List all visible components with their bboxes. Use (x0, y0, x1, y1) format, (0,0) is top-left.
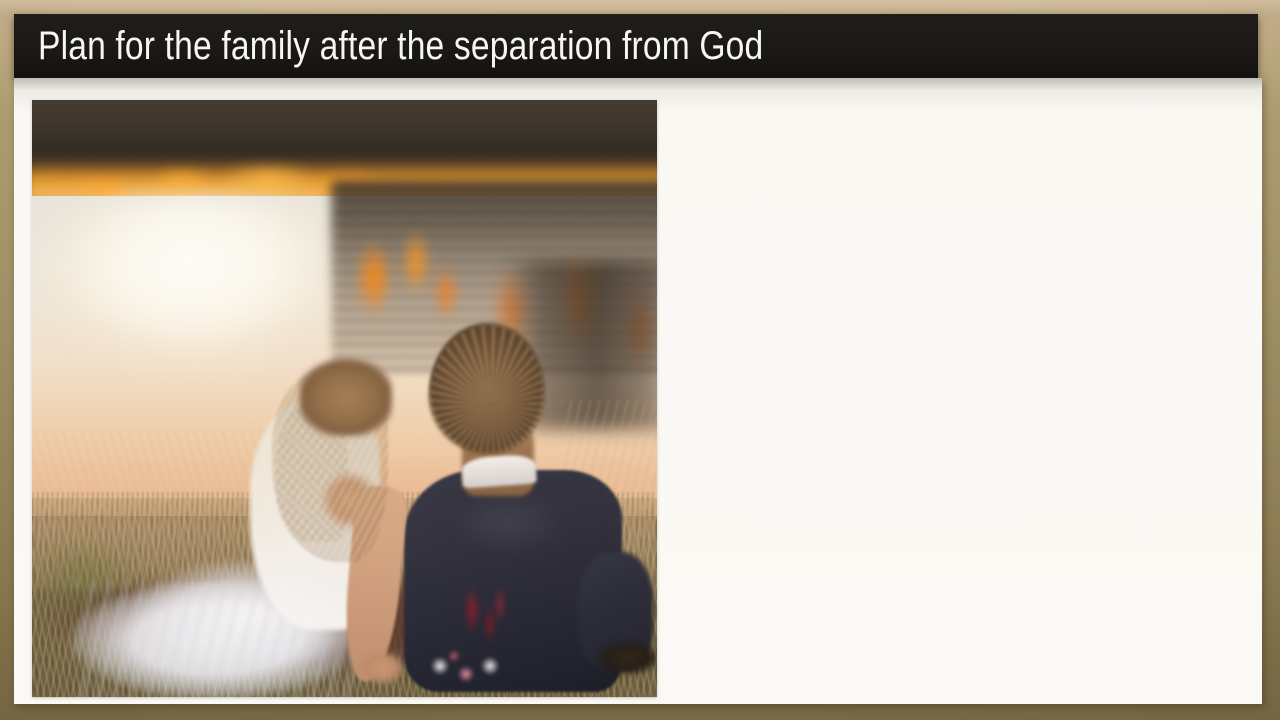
photo-warm-shore (32, 460, 657, 590)
photo-groom-shoulder (418, 468, 598, 558)
photo-water-highlight (42, 196, 372, 406)
slide-root: Plan for the family after the separation… (0, 0, 1280, 720)
photo-green-grass-patch (32, 520, 182, 640)
photo-treeline (32, 100, 657, 166)
photo-grain-overlay (32, 100, 657, 697)
photo-bride-hair (270, 362, 390, 562)
photo-groom-leg (577, 552, 653, 670)
photo-bouquet-stems (442, 570, 522, 670)
photo-bride-hair-crown (300, 358, 392, 436)
photo-dress-folds (76, 580, 356, 697)
wedding-couple-photo (32, 100, 657, 697)
photo-bride-hair-strands (272, 366, 388, 562)
photo-bride-arm (340, 484, 409, 684)
photo-dress-train (66, 582, 356, 697)
slide-title: Plan for the family after the separation… (38, 26, 763, 66)
photo-groom-collar (461, 453, 537, 488)
photo-tall-reeds-right (562, 400, 657, 590)
slide-title-bar: Plan for the family after the separation… (14, 14, 1258, 78)
photo-groom-ear (519, 396, 541, 430)
photo-treeline-soft (32, 150, 657, 196)
photo-groom-neck (462, 418, 534, 496)
photo-far-bank (332, 180, 657, 350)
photo-sunset-glow-band (32, 162, 657, 220)
photo-orange-reflection-right (472, 240, 657, 410)
photo-groom-hair (428, 322, 546, 454)
photo-bride-dress-bodice (250, 400, 380, 630)
photo-warm-overlay (32, 100, 657, 697)
photo-lake-water (32, 196, 657, 516)
photo-groom-hair-strands (430, 326, 544, 452)
photo-groom-shoe (598, 640, 657, 676)
photo-orange-reflection-left (350, 218, 470, 348)
photo-blanket (42, 570, 562, 680)
photo-dress-train-upper (128, 560, 358, 690)
photo-water-streaks (332, 186, 657, 376)
photo-dark-reflection (502, 260, 657, 430)
photo-groom-suit (404, 470, 622, 692)
photo-bride-hand (362, 652, 406, 690)
photo-grass-band (32, 498, 657, 697)
photo-bouquet-flowers (418, 640, 514, 692)
photo-bride-shoulder (322, 472, 378, 532)
photo-grass-texture (32, 492, 657, 697)
photo-tall-reeds-left (32, 430, 292, 580)
photo-dress-lace (276, 402, 348, 542)
photo-sunset-highlights (32, 152, 657, 222)
slide-content-panel (14, 78, 1262, 704)
